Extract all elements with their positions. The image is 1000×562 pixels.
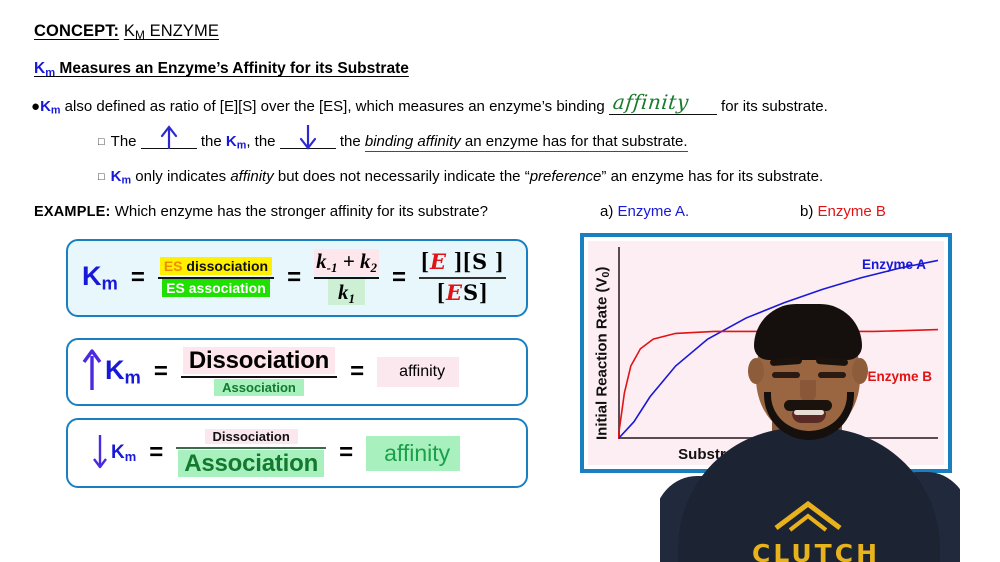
handwritten-affinity: affinity (612, 90, 690, 114)
example-question: Which enzyme has the stronger affinity f… (115, 203, 488, 220)
bullet2-rest: an enzyme has for that substrate. (461, 133, 688, 152)
ear-left (748, 358, 764, 384)
box2-denominator: Association (181, 379, 337, 397)
box2-km-sub: m (125, 367, 141, 388)
square-bullet-icon: □ (98, 171, 105, 183)
box2-numerator: Dissociation (181, 347, 337, 375)
box1-equals-1: = (131, 264, 145, 292)
option-a-letter: a) (600, 203, 613, 220)
bullet2-km-sub: m (237, 140, 247, 152)
box2-result-word: affinity (393, 361, 451, 383)
subhead-km-sub: m (45, 67, 55, 79)
bullet2-the-1: The (111, 133, 141, 150)
box1-k2-sub: 2 (370, 260, 377, 275)
box1-den-word: association (185, 280, 266, 296)
concept-title-k: K (124, 22, 135, 40)
box1-k-minus1: k (316, 249, 327, 273)
box1-fraction-rate-constants: k-1 + k2 k1 (314, 249, 379, 307)
box1-fraction-es: ES dissociation ES association (158, 258, 274, 298)
square-bullet-icon: □ (98, 136, 105, 148)
option-b-text: Enzyme B (818, 203, 886, 220)
bullet3-part1: only indicates (131, 168, 230, 185)
box1-denominator: ES association (158, 280, 274, 298)
bullet-dot-icon: ● (31, 98, 40, 115)
box1-conc-numerator: [E ][S ] (419, 249, 506, 276)
bullet1-text-before: also defined as ratio of [E][S] over the… (61, 98, 609, 115)
box3-equals-2: = (339, 439, 353, 467)
subhead-text: Measures an Enzyme’s Affinity for its Su… (55, 60, 409, 77)
eye-left (772, 372, 800, 378)
box3-down-arrow (92, 433, 108, 474)
box2-equals-1: = (154, 358, 168, 386)
box2-km-symbol: Km (105, 355, 141, 389)
bullet3-km-sub: m (122, 175, 132, 187)
bullet-3: □Km only indicates affinity but does not… (98, 168, 823, 187)
bullet3-italic-affinity: affinity (230, 168, 273, 185)
blank-rule (609, 114, 717, 115)
box3-equals-1: = (149, 439, 163, 467)
box3-numerator-text: Dissociation (205, 429, 298, 444)
option-a-text: Enzyme A. (618, 203, 690, 220)
bullet1-text-after: for its substrate. (717, 98, 828, 115)
box1-conc-num-e: E (430, 249, 447, 274)
concept-label: CONCEPT: (34, 22, 119, 40)
box1-plus: + (337, 249, 359, 273)
box3-fraction-bar (176, 447, 326, 449)
box2-numerator-text: Dissociation (183, 347, 335, 374)
eye-right (818, 372, 846, 378)
box1-rate-numerator: k-1 + k2 (314, 249, 379, 276)
box3-denominator: Association (176, 450, 326, 478)
bullet-1: ●Km also defined as ratio of [E][S] over… (31, 95, 828, 117)
box3-km-symbol: Km (111, 442, 136, 464)
equation-box-high-km: Km = Dissociation Association = affinity (66, 338, 528, 406)
bullet3-km: K (111, 168, 122, 185)
concept-title-rest: ENZYME (145, 22, 219, 40)
bullet1-km-sub: m (51, 105, 61, 117)
box1-den-es: ES (166, 280, 185, 296)
box1-conc-fraction-bar (419, 277, 506, 279)
box1-rate-denominator: k1 (314, 280, 379, 307)
bullet3-part3: ” an enzyme has for its substrate. (601, 168, 823, 185)
box1-num-es: ES (164, 258, 183, 274)
chart-y-axis-label-text: Initial Reaction Rate (V0) (594, 266, 613, 439)
box2-up-arrow (82, 348, 102, 397)
shirt-logo: CLUTCH (752, 498, 864, 562)
box1-k2: k (360, 249, 371, 273)
up-arrow-icon (158, 124, 180, 150)
box1-km-sub: m (102, 273, 118, 294)
box3-km: K (111, 442, 125, 463)
box1-conc-num-s: S (472, 249, 488, 274)
box3-denominator-text: Association (178, 450, 324, 477)
answer-option-b[interactable]: b) Enzyme B (800, 203, 886, 220)
presenter-video-overlay: CLUTCH (660, 300, 960, 562)
box1-k1-sub: 1 (349, 291, 356, 306)
box1-equals-2: = (287, 264, 301, 292)
ear-right (852, 358, 868, 384)
box1-numerator: ES dissociation (158, 258, 274, 276)
equation-box-low-km: Km = Dissociation Association = affinity (66, 418, 528, 488)
box2-denominator-text: Association (214, 379, 304, 396)
box3-result: affinity (366, 436, 460, 471)
hair (754, 304, 862, 360)
box2-fraction-bar (181, 376, 337, 378)
concept-title-sub: M (135, 28, 145, 42)
answer-blank-down-arrow (280, 131, 336, 149)
equation-box-km-definition: Km = ES dissociation ES association = k-… (66, 239, 528, 317)
box2-equals-2: = (350, 358, 364, 386)
teeth (794, 410, 824, 415)
bullet3-part2: but does not necessarily indicate the “ (274, 168, 530, 185)
nose (800, 380, 816, 402)
box1-km-symbol: Km (82, 261, 118, 295)
box3-numerator: Dissociation (176, 428, 326, 446)
box3-result-word: affinity (384, 440, 450, 467)
box1-k1: k (338, 280, 349, 304)
concept-heading: CONCEPT: KM ENZYME (34, 22, 219, 42)
box1-fraction-concentrations: [E ][S ] [ES] (419, 249, 506, 307)
bullet1-km: K (40, 98, 51, 115)
lesson-slide: CONCEPT: KM ENZYME Km Measures an Enzyme… (0, 0, 1000, 562)
clutch-wordmark: CLUTCH (752, 539, 864, 562)
chart-y-axis-label: Initial Reaction Rate (V0) (590, 241, 616, 465)
subhead-km: K (34, 60, 45, 77)
answer-option-a[interactable]: a) Enzyme A. (600, 203, 689, 220)
box3-fraction: Dissociation Association (176, 428, 326, 478)
box3-km-sub: m (125, 449, 136, 464)
box2-fraction: Dissociation Association (181, 347, 337, 397)
example-line: EXAMPLE: Which enzyme has the stronger a… (34, 203, 488, 220)
down-arrow-icon (297, 124, 319, 150)
bullet2-comma-the: , the (246, 133, 279, 150)
box1-conc-den-s: S (463, 280, 479, 305)
box1-num-word: dissociation (183, 258, 269, 274)
bullet2-tail-the: the (336, 133, 365, 150)
down-arrow-icon (92, 433, 108, 469)
option-b-letter: b) (800, 203, 813, 220)
bullet2-km: K (226, 133, 237, 150)
box1-km: K (82, 261, 102, 291)
box1-conc-denominator: [ES] (419, 280, 506, 307)
chart-legend-enzyme-a: Enzyme A (862, 257, 926, 272)
bullet-2: □The the Km, the the binding affinity an… (98, 131, 688, 152)
bullet3-italic-preference: preference (530, 168, 602, 185)
up-arrow-icon (82, 348, 102, 392)
answer-blank-affinity: affinity (609, 95, 717, 115)
answer-blank-up-arrow (141, 131, 197, 149)
box1-conc-den-e: E (446, 280, 463, 305)
box2-km: K (105, 355, 125, 385)
box2-result: affinity (377, 357, 459, 387)
section-subheading: Km Measures an Enzyme’s Affinity for its… (34, 60, 409, 79)
clutch-chevron-icon (772, 498, 844, 532)
box1-k-minus1-sub: -1 (327, 260, 338, 275)
bullet2-the-2: the (197, 133, 226, 150)
example-label: EXAMPLE: (34, 204, 111, 220)
bullet2-italic-binding-affinity: binding affinity (365, 133, 461, 152)
box1-equals-3: = (392, 264, 406, 292)
